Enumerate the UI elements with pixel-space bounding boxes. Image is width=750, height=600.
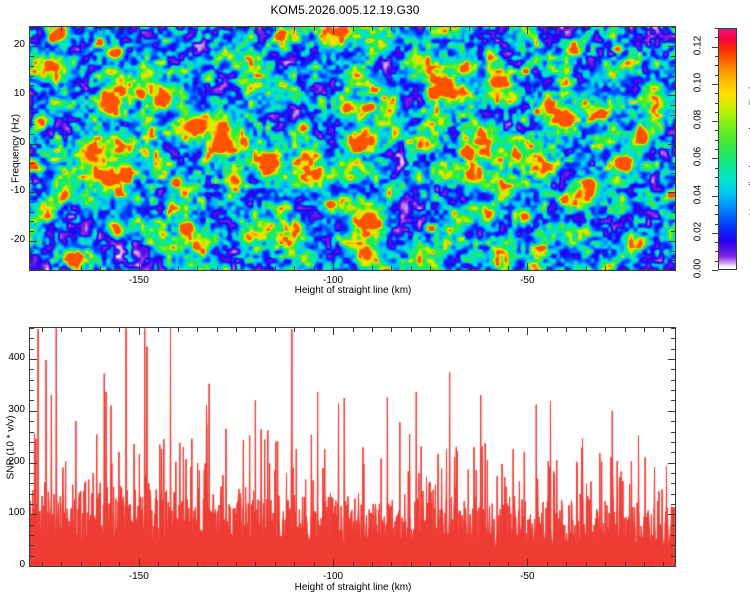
spectrogram-x-minor-tick xyxy=(42,27,43,31)
spectrogram-y-minor-tick xyxy=(671,183,675,184)
snr-y-tick xyxy=(671,390,675,391)
spectrogram-y-minor-tick xyxy=(671,66,675,67)
snr-x-tick xyxy=(197,562,198,566)
snr-x-tick xyxy=(411,562,412,566)
spectrogram-x-minor-tick xyxy=(314,266,315,270)
spectrogram-y-minor-tick xyxy=(30,105,34,106)
spectrogram-x-minor-tick xyxy=(100,266,101,270)
spectrogram-x-minor-tick xyxy=(372,266,373,270)
colorbar-tick xyxy=(712,121,718,122)
spectrogram-frame xyxy=(29,26,676,271)
snr-x-tick xyxy=(508,328,509,332)
spectrogram-x-minor-tick xyxy=(333,27,334,34)
snr-y-tick xyxy=(668,359,675,360)
colorbar-tick xyxy=(715,65,718,66)
snr-y-tick xyxy=(671,483,675,484)
spectrogram-x-minor-tick xyxy=(294,27,295,31)
spectrogram-y-tick-label: 20 xyxy=(0,39,25,50)
snr-x-tick xyxy=(353,562,354,566)
colorbar-tick xyxy=(712,196,718,197)
spectrogram-x-minor-tick xyxy=(450,266,451,270)
spectrogram-x-minor-tick xyxy=(139,27,140,34)
spectrogram-y-minor-tick xyxy=(671,134,675,135)
figure-root: KOM5.2026.005.12.19.G30 20100-10-20 -150… xyxy=(0,0,750,600)
snr-y-tick xyxy=(30,432,34,433)
colorbar-tick xyxy=(715,186,718,187)
snr-x-tick xyxy=(236,328,237,332)
spectrogram-y-minor-tick xyxy=(30,163,34,164)
colorbar-tick xyxy=(712,270,718,271)
snr-x-tick-label: -150 xyxy=(109,571,169,582)
snr-y-tick xyxy=(30,338,34,339)
snr-y-tick xyxy=(30,442,34,443)
spectrogram-x-minor-tick xyxy=(508,266,509,270)
spectrogram-y-minor-tick xyxy=(30,270,34,271)
snr-x-tick xyxy=(644,328,645,332)
snr-y-tick xyxy=(668,463,675,464)
spectrogram-x-minor-tick xyxy=(508,27,509,31)
snr-x-tick xyxy=(275,328,276,332)
snr-x-tick xyxy=(450,562,451,566)
snr-y-tick xyxy=(30,390,34,391)
spectrogram-y-minor-tick xyxy=(671,76,675,77)
snr-y-tick xyxy=(671,432,675,433)
snr-y-tick xyxy=(671,504,675,505)
colorbar-tick xyxy=(712,158,718,159)
spectrogram-x-minor-tick xyxy=(469,27,470,31)
spectrogram-y-minor-tick xyxy=(671,231,675,232)
snr-x-tick xyxy=(489,328,490,332)
spectrogram-x-minor-tick xyxy=(61,266,62,270)
snr-x-tick xyxy=(119,562,120,566)
spectrogram-y-minor-tick xyxy=(671,270,675,271)
snr-y-tick xyxy=(30,473,34,474)
spectrogram-y-minor-tick xyxy=(30,192,37,193)
snr-x-tick xyxy=(372,562,373,566)
snr-x-tick xyxy=(42,562,43,566)
colorbar-tick xyxy=(715,56,718,57)
spectrogram-x-minor-tick xyxy=(197,27,198,31)
spectrogram-x-minor-tick xyxy=(625,27,626,31)
snr-y-tick xyxy=(671,369,675,370)
colorbar-tick xyxy=(715,251,718,252)
spectrogram-y-minor-tick xyxy=(30,221,34,222)
snr-x-tick xyxy=(625,562,626,566)
snr-x-tick xyxy=(119,328,120,332)
spectrogram-y-minor-tick xyxy=(671,153,675,154)
snr-x-tick xyxy=(586,562,587,566)
snr-x-tick xyxy=(391,562,392,566)
spectrogram-y-minor-tick xyxy=(671,124,675,125)
snr-x-tick xyxy=(489,562,490,566)
snr-x-tick xyxy=(586,328,587,332)
snr-x-tick xyxy=(333,559,334,566)
spectrogram-x-minor-tick xyxy=(255,266,256,270)
snr-y-tick xyxy=(668,566,675,567)
spectrogram-y-minor-tick xyxy=(671,105,675,106)
snr-x-tick xyxy=(411,328,412,332)
spectrogram-x-minor-tick xyxy=(333,263,334,270)
spectrogram-y-minor-tick xyxy=(30,241,37,242)
spectrogram-y-minor-tick xyxy=(30,76,34,77)
snr-y-tick xyxy=(671,494,675,495)
snr-y-tick xyxy=(30,349,34,350)
spectrogram-x-tick-label: -50 xyxy=(497,275,557,286)
snr-x-tick xyxy=(81,562,82,566)
snr-x-tick xyxy=(255,328,256,332)
spectrogram-x-minor-tick xyxy=(100,27,101,31)
snr-x-tick xyxy=(314,328,315,332)
snr-y-tick-label: 400 xyxy=(0,352,25,363)
snr-x-tick xyxy=(450,328,451,332)
snr-x-tick-label: -50 xyxy=(497,571,557,582)
spectrogram-y-minor-tick xyxy=(30,260,34,261)
spectrogram-x-minor-tick xyxy=(119,27,120,31)
spectrogram-y-minor-tick xyxy=(668,144,675,145)
colorbar-tick xyxy=(715,37,718,38)
spectrogram-x-minor-tick xyxy=(566,266,567,270)
colorbar-tick xyxy=(715,93,718,94)
snr-x-tick xyxy=(333,328,334,335)
snr-x-tick xyxy=(158,562,159,566)
snr-x-tick xyxy=(372,328,373,332)
colorbar-tick xyxy=(715,130,718,131)
snr-x-tick xyxy=(430,328,431,332)
snr-x-tick-label: -100 xyxy=(303,571,363,582)
spectrogram-y-minor-tick xyxy=(30,144,37,145)
spectrogram-y-minor-tick xyxy=(30,202,34,203)
snr-y-tick xyxy=(671,328,675,329)
snr-x-tick xyxy=(314,562,315,566)
colorbar-tick xyxy=(715,112,718,113)
colorbar-tick xyxy=(715,242,718,243)
spectrogram-x-minor-tick xyxy=(605,266,606,270)
snr-x-tick xyxy=(625,328,626,332)
snr-y-tick-label: 0 xyxy=(0,559,25,570)
snr-y-tick xyxy=(30,359,37,360)
spectrogram-x-minor-tick xyxy=(625,266,626,270)
spectrogram-x-minor-tick xyxy=(158,27,159,31)
snr-x-tick xyxy=(139,328,140,335)
snr-x-tick xyxy=(197,328,198,332)
spectrogram-x-minor-tick xyxy=(294,266,295,270)
snr-x-tick xyxy=(100,328,101,332)
snr-x-tick xyxy=(663,328,664,332)
snr-x-tick xyxy=(605,562,606,566)
spectrogram-y-minor-tick xyxy=(668,95,675,96)
snr-y-tick xyxy=(30,328,34,329)
snr-y-tick xyxy=(30,535,34,536)
spectrogram-x-minor-tick xyxy=(178,27,179,31)
snr-y-tick xyxy=(30,504,34,505)
spectrogram-x-minor-tick xyxy=(391,266,392,270)
spectrogram-x-minor-tick xyxy=(236,27,237,31)
spectrogram-x-minor-tick xyxy=(430,27,431,31)
spectrogram-y-minor-tick xyxy=(30,27,34,28)
spectrogram-y-minor-tick xyxy=(668,241,675,242)
spectrogram-x-minor-tick xyxy=(391,27,392,31)
snr-y-tick xyxy=(30,566,37,567)
spectrogram-y-minor-tick xyxy=(30,66,34,67)
snr-y-tick xyxy=(30,380,34,381)
snr-x-tick xyxy=(275,562,276,566)
snr-y-tick xyxy=(671,556,675,557)
snr-y-tick xyxy=(671,452,675,453)
snr-x-tick xyxy=(255,562,256,566)
snr-x-tick xyxy=(663,562,664,566)
snr-x-axis-label: Height of straight line (km) xyxy=(236,582,470,593)
snr-y-tick xyxy=(30,483,34,484)
spectrogram-y-minor-tick xyxy=(30,85,34,86)
spectrogram-y-minor-tick xyxy=(671,202,675,203)
colorbar-tick xyxy=(715,214,718,215)
spectrogram-x-minor-tick xyxy=(372,27,373,31)
spectrogram-y-minor-tick xyxy=(30,46,37,47)
snr-y-tick xyxy=(671,545,675,546)
colorbar-tick xyxy=(715,205,718,206)
snr-x-tick xyxy=(391,328,392,332)
spectrogram-y-minor-tick xyxy=(671,163,675,164)
spectrogram-x-minor-tick xyxy=(489,266,490,270)
spectrogram-y-minor-tick xyxy=(30,173,34,174)
snr-y-tick xyxy=(30,452,34,453)
spectrogram-x-minor-tick xyxy=(275,266,276,270)
snr-x-tick xyxy=(178,562,179,566)
snr-y-tick xyxy=(671,535,675,536)
colorbar-tick-label: 0.12 xyxy=(693,23,704,67)
snr-x-tick xyxy=(527,559,528,566)
snr-x-tick xyxy=(100,562,101,566)
spectrogram-x-minor-tick xyxy=(527,27,528,34)
spectrogram-x-minor-tick xyxy=(547,266,548,270)
spectrogram-x-minor-tick xyxy=(450,27,451,31)
snr-y-tick xyxy=(671,349,675,350)
spectrogram-x-tick-label: -150 xyxy=(109,275,169,286)
snr-x-tick xyxy=(469,328,470,332)
snr-y-tick xyxy=(671,400,675,401)
colorbar-tick-label: 0.04 xyxy=(693,172,704,216)
snr-y-tick xyxy=(30,400,34,401)
spectrogram-y-minor-tick xyxy=(671,212,675,213)
snr-x-tick xyxy=(294,562,295,566)
colorbar xyxy=(718,28,737,270)
spectrogram-y-minor-tick xyxy=(668,192,675,193)
spectrogram-y-minor-tick xyxy=(671,56,675,57)
snr-x-tick xyxy=(547,562,548,566)
snr-x-tick xyxy=(294,328,295,332)
snr-x-tick xyxy=(158,328,159,332)
snr-y-tick xyxy=(668,514,675,515)
spectrogram-x-minor-tick xyxy=(644,266,645,270)
snr-y-tick xyxy=(671,338,675,339)
colorbar-tick xyxy=(715,168,718,169)
snr-y-axis-label: SNR (10 * v/v) xyxy=(6,405,17,491)
spectrogram-x-minor-tick xyxy=(42,266,43,270)
snr-y-tick xyxy=(30,514,37,515)
spectrogram-x-minor-tick xyxy=(411,27,412,31)
spectrogram-x-minor-tick xyxy=(236,266,237,270)
spectrogram-x-minor-tick xyxy=(275,27,276,31)
spectrogram-y-minor-tick xyxy=(30,56,34,57)
spectrogram-x-minor-tick xyxy=(605,27,606,31)
spectrogram-x-minor-tick xyxy=(663,27,664,31)
snr-y-tick xyxy=(30,463,37,464)
spectrogram-y-minor-tick xyxy=(671,115,675,116)
snr-x-tick xyxy=(61,562,62,566)
spectrogram-x-minor-tick xyxy=(353,27,354,31)
spectrogram-x-minor-tick xyxy=(81,266,82,270)
colorbar-tick xyxy=(715,261,718,262)
spectrogram-y-minor-tick xyxy=(30,37,34,38)
snr-x-tick xyxy=(566,562,567,566)
spectrogram-y-minor-tick xyxy=(671,221,675,222)
spectrogram-x-minor-tick xyxy=(411,266,412,270)
snr-y-tick xyxy=(30,421,34,422)
snr-x-tick xyxy=(42,328,43,332)
spectrogram-y-minor-tick xyxy=(671,37,675,38)
spectrogram-x-minor-tick xyxy=(353,266,354,270)
spectrogram-y-minor-tick xyxy=(30,115,34,116)
spectrogram-x-minor-tick xyxy=(527,263,528,270)
spectrogram-x-minor-tick xyxy=(81,27,82,31)
spectrogram-y-axis-label: Frequency (Hz) xyxy=(11,106,22,192)
snr-y-tick xyxy=(30,545,34,546)
snr-x-tick xyxy=(139,559,140,566)
page-title: KOM5.2026.005.12.19.G30 xyxy=(0,3,690,17)
colorbar-tick xyxy=(715,149,718,150)
snr-x-tick xyxy=(605,328,606,332)
spectrogram-x-minor-tick xyxy=(197,266,198,270)
spectrogram-x-minor-tick xyxy=(586,27,587,31)
spectrogram-x-minor-tick xyxy=(119,266,120,270)
spectrogram-y-minor-tick xyxy=(30,183,34,184)
spectrogram-y-tick-label: -20 xyxy=(0,234,25,245)
spectrogram-y-minor-tick xyxy=(671,85,675,86)
snr-y-tick xyxy=(30,369,34,370)
snr-x-tick xyxy=(217,562,218,566)
spectrogram-x-minor-tick xyxy=(217,266,218,270)
snr-y-tick xyxy=(671,473,675,474)
spectrogram-x-minor-tick xyxy=(547,27,548,31)
snr-y-tick xyxy=(30,411,37,412)
spectrogram-x-minor-tick xyxy=(430,266,431,270)
snr-x-tick xyxy=(547,328,548,332)
spectrogram-y-minor-tick xyxy=(671,173,675,174)
snr-y-tick xyxy=(671,421,675,422)
snr-frame xyxy=(29,327,676,567)
spectrogram-x-minor-tick xyxy=(586,266,587,270)
spectrogram-x-minor-tick xyxy=(314,27,315,31)
colorbar-tick xyxy=(712,47,718,48)
spectrogram-y-minor-tick xyxy=(30,231,34,232)
spectrogram-x-minor-tick xyxy=(566,27,567,31)
spectrogram-y-minor-tick xyxy=(30,124,34,125)
snr-x-tick xyxy=(236,562,237,566)
snr-x-tick xyxy=(644,562,645,566)
snr-x-tick xyxy=(178,328,179,332)
colorbar-tick xyxy=(715,224,718,225)
snr-y-tick xyxy=(668,411,675,412)
snr-y-tick xyxy=(671,442,675,443)
colorbar-tick xyxy=(715,103,718,104)
spectrogram-y-minor-tick xyxy=(671,251,675,252)
snr-x-tick xyxy=(430,562,431,566)
colorbar-tick xyxy=(712,84,718,85)
spectrogram-y-minor-tick xyxy=(668,46,675,47)
snr-x-tick xyxy=(81,328,82,332)
spectrogram-x-minor-tick xyxy=(158,266,159,270)
spectrogram-y-minor-tick xyxy=(30,95,37,96)
spectrogram-x-minor-tick xyxy=(644,27,645,31)
snr-x-tick xyxy=(61,328,62,332)
snr-x-tick xyxy=(566,328,567,332)
spectrogram-x-minor-tick xyxy=(178,266,179,270)
spectrogram-x-minor-tick xyxy=(61,27,62,31)
snr-y-tick xyxy=(30,556,34,557)
colorbar-tick xyxy=(715,177,718,178)
colorbar-tick xyxy=(715,28,718,29)
spectrogram-x-minor-tick xyxy=(217,27,218,31)
spectrogram-y-minor-tick xyxy=(30,153,34,154)
snr-y-tick xyxy=(30,525,34,526)
snr-x-tick xyxy=(527,328,528,335)
spectrogram-x-minor-tick xyxy=(255,27,256,31)
spectrogram-x-axis-label: Height of straight line (km) xyxy=(236,285,470,296)
snr-y-tick-label: 100 xyxy=(0,507,25,518)
colorbar-tick xyxy=(712,233,718,234)
spectrogram-y-minor-tick xyxy=(671,260,675,261)
snr-x-tick xyxy=(353,328,354,332)
spectrogram-y-minor-tick xyxy=(30,251,34,252)
snr-y-tick xyxy=(671,380,675,381)
colorbar-tick xyxy=(715,140,718,141)
snr-x-tick xyxy=(508,562,509,566)
snr-x-tick xyxy=(217,328,218,332)
snr-y-tick xyxy=(30,494,34,495)
spectrogram-y-tick-label: 10 xyxy=(0,88,25,99)
spectrogram-y-minor-tick xyxy=(30,212,34,213)
spectrogram-x-minor-tick xyxy=(469,266,470,270)
spectrogram-y-minor-tick xyxy=(30,134,34,135)
spectrogram-x-minor-tick xyxy=(139,263,140,270)
snr-y-tick xyxy=(671,525,675,526)
spectrogram-x-minor-tick xyxy=(663,266,664,270)
colorbar-tick xyxy=(715,75,718,76)
spectrogram-x-minor-tick xyxy=(489,27,490,31)
snr-x-tick xyxy=(469,562,470,566)
spectrogram-y-minor-tick xyxy=(671,27,675,28)
